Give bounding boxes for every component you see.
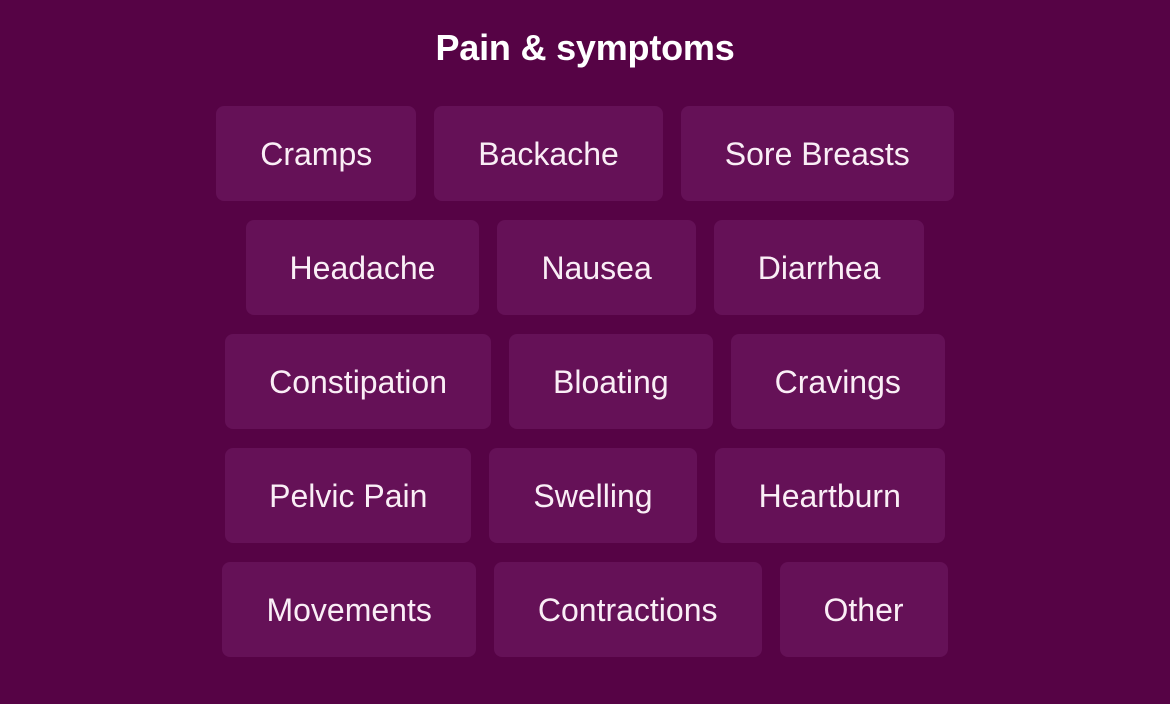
symptom-row: Movements Contractions Other — [85, 562, 1085, 657]
pain-symptoms-screen: Pain & symptoms Cramps Backache Sore Bre… — [0, 0, 1170, 704]
symptom-chip-backache[interactable]: Backache — [434, 106, 663, 201]
symptom-chip-other[interactable]: Other — [780, 562, 948, 657]
symptom-chip-label: Movements — [266, 594, 431, 626]
symptom-chip-swelling[interactable]: Swelling — [489, 448, 696, 543]
symptom-chip-label: Cramps — [260, 138, 372, 170]
symptom-chip-label: Bloating — [553, 366, 669, 398]
symptom-chip-pelvic-pain[interactable]: Pelvic Pain — [225, 448, 471, 543]
symptom-chip-grid: Cramps Backache Sore Breasts Headache Na… — [85, 106, 1085, 657]
symptom-chip-label: Constipation — [269, 366, 447, 398]
symptom-chip-cramps[interactable]: Cramps — [216, 106, 416, 201]
symptom-chip-label: Diarrhea — [758, 252, 881, 284]
symptom-row: Cramps Backache Sore Breasts — [85, 106, 1085, 201]
symptom-chip-sore-breasts[interactable]: Sore Breasts — [681, 106, 954, 201]
symptom-chip-label: Swelling — [533, 480, 652, 512]
symptom-chip-label: Heartburn — [759, 480, 901, 512]
symptom-chip-cravings[interactable]: Cravings — [731, 334, 945, 429]
symptom-chip-heartburn[interactable]: Heartburn — [715, 448, 945, 543]
symptom-chip-label: Contractions — [538, 594, 718, 626]
symptom-chip-contractions[interactable]: Contractions — [494, 562, 762, 657]
symptom-chip-label: Backache — [478, 138, 619, 170]
symptom-chip-label: Pelvic Pain — [269, 480, 427, 512]
symptom-chip-bloating[interactable]: Bloating — [509, 334, 713, 429]
symptom-chip-label: Nausea — [541, 252, 651, 284]
symptom-chip-nausea[interactable]: Nausea — [497, 220, 695, 315]
symptom-chip-label: Headache — [290, 252, 436, 284]
symptom-row: Constipation Bloating Cravings — [85, 334, 1085, 429]
symptom-row: Pelvic Pain Swelling Heartburn — [85, 448, 1085, 543]
symptom-chip-label: Cravings — [775, 366, 901, 398]
symptom-chip-label: Other — [824, 594, 904, 626]
page-title: Pain & symptoms — [0, 0, 1170, 72]
symptom-chip-label: Sore Breasts — [725, 138, 910, 170]
symptom-chip-constipation[interactable]: Constipation — [225, 334, 491, 429]
symptom-chip-diarrhea[interactable]: Diarrhea — [714, 220, 925, 315]
symptom-chip-headache[interactable]: Headache — [246, 220, 480, 315]
symptom-row: Headache Nausea Diarrhea — [85, 220, 1085, 315]
symptom-chip-movements[interactable]: Movements — [222, 562, 475, 657]
